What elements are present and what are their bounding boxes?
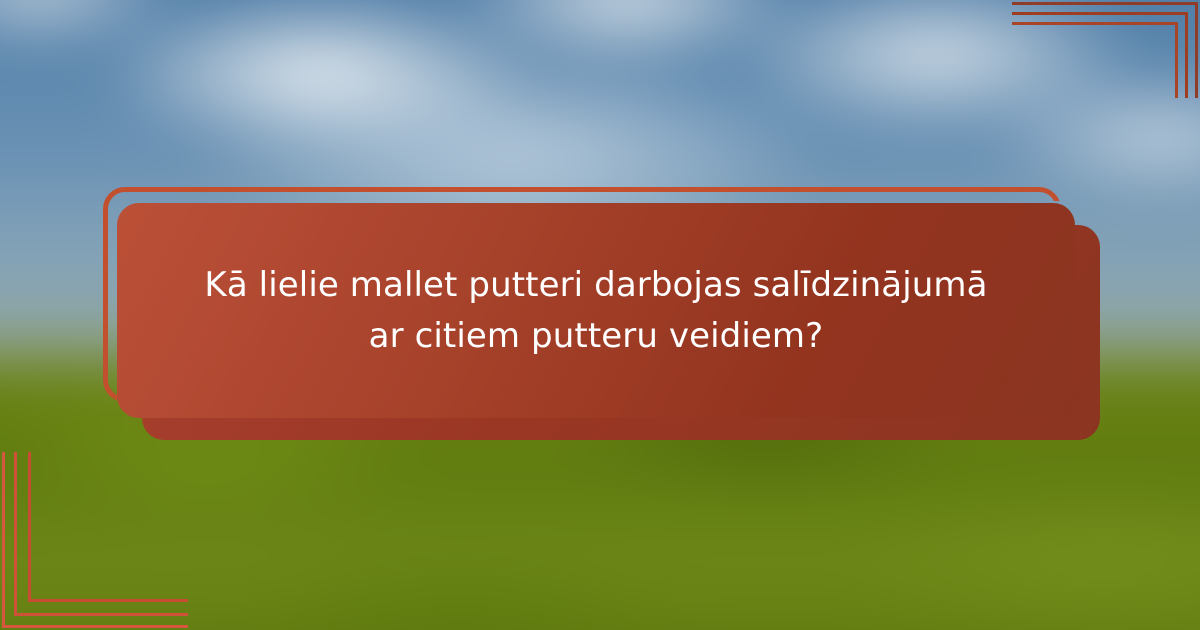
- headline-card-group: Kā lielie mallet putteri darbojas salīdz…: [0, 0, 1200, 630]
- headline-line-1: Kā lielie mallet putteri darbojas salīdz…: [204, 265, 987, 305]
- headline-card: Kā lielie mallet putteri darbojas salīdz…: [117, 203, 1075, 418]
- headline-line-2: ar citiem putteru veidiem?: [369, 316, 824, 356]
- headline-text: Kā lielie mallet putteri darbojas salīdz…: [204, 260, 987, 361]
- social-card-canvas: Kā lielie mallet putteri darbojas salīdz…: [0, 0, 1200, 630]
